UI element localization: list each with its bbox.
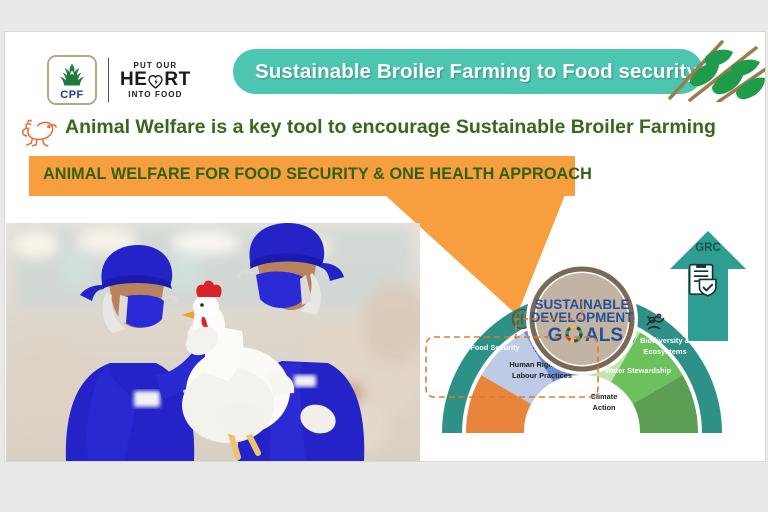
heart-icon (147, 74, 164, 89)
label-biodiversity-1: Biodiversity & (640, 336, 690, 345)
sdg-wheel-diagram: GRC (420, 221, 765, 443)
photo-illustration (6, 223, 420, 461)
cpf-plant-emblem-icon (55, 61, 89, 89)
sdg-line-3a: G (548, 325, 563, 346)
farm-workers-photo (6, 223, 420, 461)
cpf-logo: CPF PUT OUR HE RT INTO FOOD (47, 49, 207, 111)
hen-icon (19, 116, 61, 148)
label-food-security: Food Security (470, 343, 520, 352)
presentation-slide: CPF PUT OUR HE RT INTO FOOD Sustainable … (4, 31, 766, 462)
cpf-tagline: PUT OUR HE RT INTO FOOD (120, 61, 191, 99)
label-employees-2: & Communities (539, 405, 593, 414)
cpf-logo-badge: CPF (47, 55, 97, 105)
tagline-rt: RT (164, 70, 190, 90)
headline-text: Animal Welfare is a key tool to encourag… (65, 116, 765, 139)
slide-title: Sustainable Broiler Farming to Food secu… (255, 60, 698, 84)
callout-banner: ANIMAL WELFARE FOR FOOD SECURITY & ONE H… (29, 156, 575, 196)
label-climate-1: Climate (591, 392, 618, 401)
grc-label: GRC (695, 242, 721, 254)
label-climate-2: Action (593, 403, 616, 412)
document-check-icon (690, 265, 716, 296)
label-employees-1: Employees (546, 394, 585, 403)
slide-title-banner: Sustainable Broiler Farming to Food secu… (233, 49, 703, 94)
grc-arrow: GRC (670, 231, 746, 341)
label-human-rights-2: Labour Practices (512, 371, 572, 380)
label-biodiversity-2: Ecosystems (643, 347, 686, 356)
sdg-line-3b: ALS (585, 325, 623, 346)
label-water: Water Stewardship (605, 366, 672, 375)
tagline-line-3: INTO FOOD (128, 90, 182, 99)
callout-text: ANIMAL WELFARE FOR FOOD SECURITY & ONE H… (43, 165, 592, 184)
cpf-wordmark: CPF (60, 90, 84, 100)
logo-divider (108, 58, 109, 102)
tagline-he: HE (120, 70, 147, 90)
tagline-line-2: HE RT (120, 70, 191, 90)
